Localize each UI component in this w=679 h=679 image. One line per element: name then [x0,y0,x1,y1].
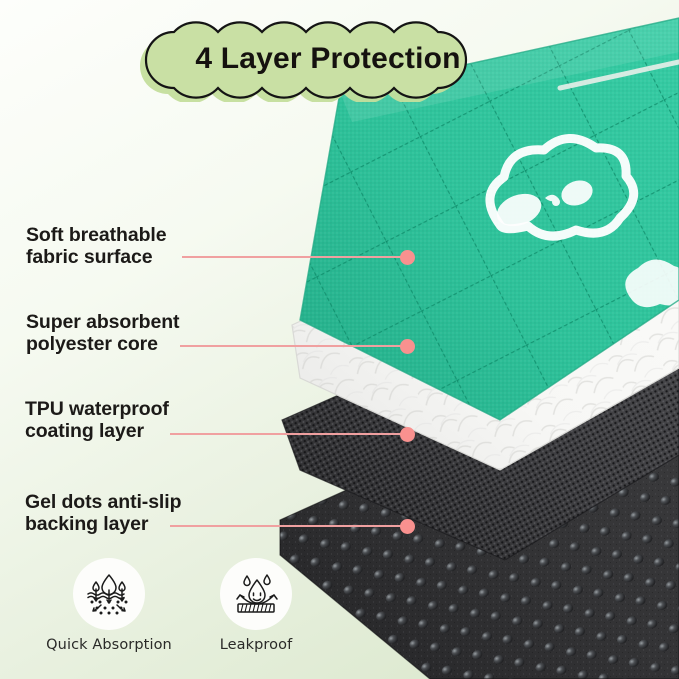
callout-line-1: Gel dots anti-slip [25,492,181,514]
callout-line-2: fabric surface [26,247,166,269]
feature-badge-circle [220,558,292,630]
feature-badge-circle [73,558,145,630]
water-absorption-icon [84,571,134,617]
feature-badges: Quick Absorption [34,558,334,670]
callout-tpu-waterproof-coating-layer: TPU waterproof coating layer [25,399,169,443]
callout-line-2: backing layer [25,514,181,536]
barrier-hatching [241,604,271,612]
callout-line-1: TPU waterproof [25,399,169,421]
callout-line-1: Super absorbent [26,312,179,334]
callout-gel-dots-anti-slip-backing-layer: Gel dots anti-slip backing layer [25,492,181,536]
callout-soft-breathable-fabric-surface: Soft breathable fabric surface [26,225,166,269]
feature-leakproof: Leakproof [181,558,331,653]
leader-dot-3 [400,427,415,442]
leader-line-2 [180,345,408,347]
leader-line-3 [170,433,408,435]
leader-dot-2 [400,339,415,354]
callout-super-absorbent-polyester-core: Super absorbent polyester core [26,312,179,356]
leader-dot-1 [400,250,415,265]
leader-dot-4 [400,519,415,534]
leakproof-droplet-icon [231,571,281,617]
leader-line-4 [170,525,408,527]
product-infographic: 4 Layer Protection Soft breathable fabri… [0,0,679,679]
absorbed-particles [91,601,128,615]
callout-line-1: Soft breathable [26,225,166,247]
callout-line-2: polyester core [26,334,179,356]
feature-quick-absorption: Quick Absorption [34,558,184,653]
callout-line-2: coating layer [25,421,169,443]
feature-label: Leakproof [181,637,331,653]
leader-line-1 [182,256,408,258]
title-banner: 4 Layer Protection [116,18,540,102]
feature-label: Quick Absorption [34,637,184,653]
page-title: 4 Layer Protection [116,18,540,102]
